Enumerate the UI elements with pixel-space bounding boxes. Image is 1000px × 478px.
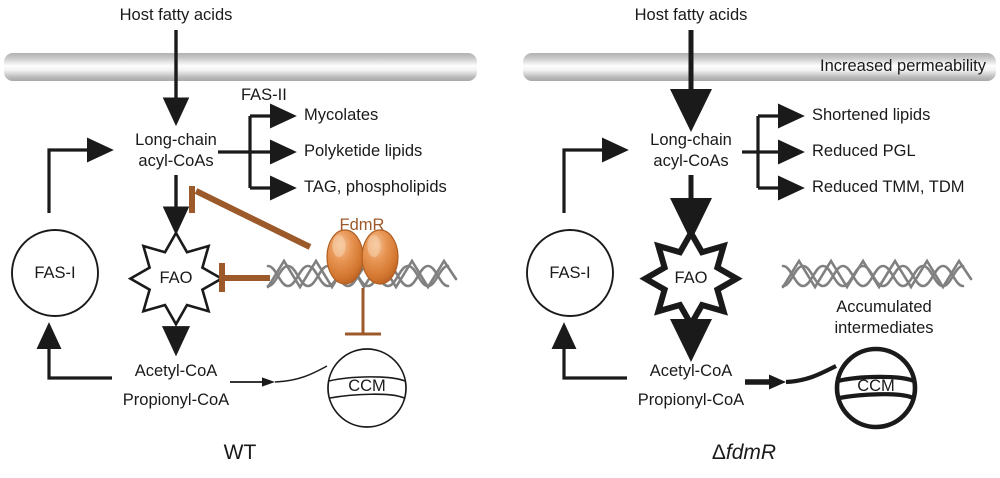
label-propionyl-coa-wt: Propionyl-CoA [123, 391, 229, 410]
label-ccm-mutant: CCM [857, 377, 895, 396]
panel-fdmr-graphics [523, 30, 996, 427]
label-accumulated-line1: Accumulated [836, 298, 931, 317]
label-product-reduced-tmm-tdm: Reduced TMM, TDM [812, 178, 965, 197]
panel-divider [499, 0, 500, 478]
panel-label-delta: Δ [712, 441, 726, 464]
inhibition-fao-wt [222, 263, 270, 292]
label-fao-mutant: FAO [674, 269, 707, 288]
label-propionyl-coa-mutant: Propionyl-CoA [638, 391, 744, 410]
inhibition-ccm-wt [345, 288, 381, 334]
label-fas-i-wt: FAS-I [34, 264, 75, 283]
label-product-shortened-lipids: Shortened lipids [812, 106, 930, 125]
label-host-fatty-acids-wt: Host fatty acids [120, 6, 233, 25]
arrow-acetylcoa-to-fasi-mutant [564, 326, 627, 378]
arrow-acetylcoa-to-fasi-wt [49, 326, 112, 378]
panel-label-gene: fdmR [726, 441, 776, 464]
arrow-fasi-to-acylcoa-mutant [564, 150, 625, 213]
label-increased-permeability: Increased permeability [820, 57, 986, 76]
inhibition-acylcoa-wt [192, 186, 310, 247]
label-host-fatty-acids-mutant: Host fatty acids [635, 6, 748, 25]
fas-ii-branch-wt [218, 116, 293, 188]
label-ccm-wt: CCM [348, 377, 386, 396]
label-acyl-coas-mutant: acyl-CoAs [653, 151, 728, 172]
label-long-chain-mutant: Long-chain [650, 130, 732, 151]
label-fas-ii-wt: FAS-II [241, 86, 287, 105]
label-acetyl-coa-wt: Acetyl-CoA [135, 362, 218, 381]
label-product-tag-phospholipids-wt: TAG, phospholipids [304, 178, 447, 197]
label-accumulated-line2: intermediates [834, 319, 933, 338]
label-product-mycolates-wt: Mycolates [304, 106, 378, 125]
label-product-reduced-pgl: Reduced PGL [812, 142, 916, 161]
arrow-acetylcoa-to-ccm-wt [230, 366, 327, 387]
label-fdmr-wt: FdmR [340, 216, 385, 235]
dna-helix-mutant [783, 261, 971, 287]
arrow-acetylcoa-to-ccm-mutant [745, 366, 836, 390]
arrow-fasi-to-acylcoa-wt [49, 150, 110, 213]
label-acyl-coas-wt: acyl-CoAs [138, 151, 213, 172]
fdmr-protein-wt [327, 230, 398, 284]
label-fas-i-mutant: FAS-I [549, 264, 590, 283]
label-acetyl-coa-mutant: Acetyl-CoA [650, 362, 733, 381]
panel-label-mutant: ΔfdmR [712, 441, 776, 465]
label-long-chain-wt: Long-chain [135, 130, 217, 151]
membrane-bar-wt [4, 53, 477, 81]
pathway-figure: Host fatty acids Long-chain acyl-CoAs FA… [0, 0, 1000, 478]
panel-label-wt: WT [224, 441, 257, 465]
label-product-polyketide-lipids-wt: Polyketide lipids [304, 142, 422, 161]
product-branch-mutant [742, 116, 801, 188]
label-fao-wt: FAO [159, 269, 192, 288]
